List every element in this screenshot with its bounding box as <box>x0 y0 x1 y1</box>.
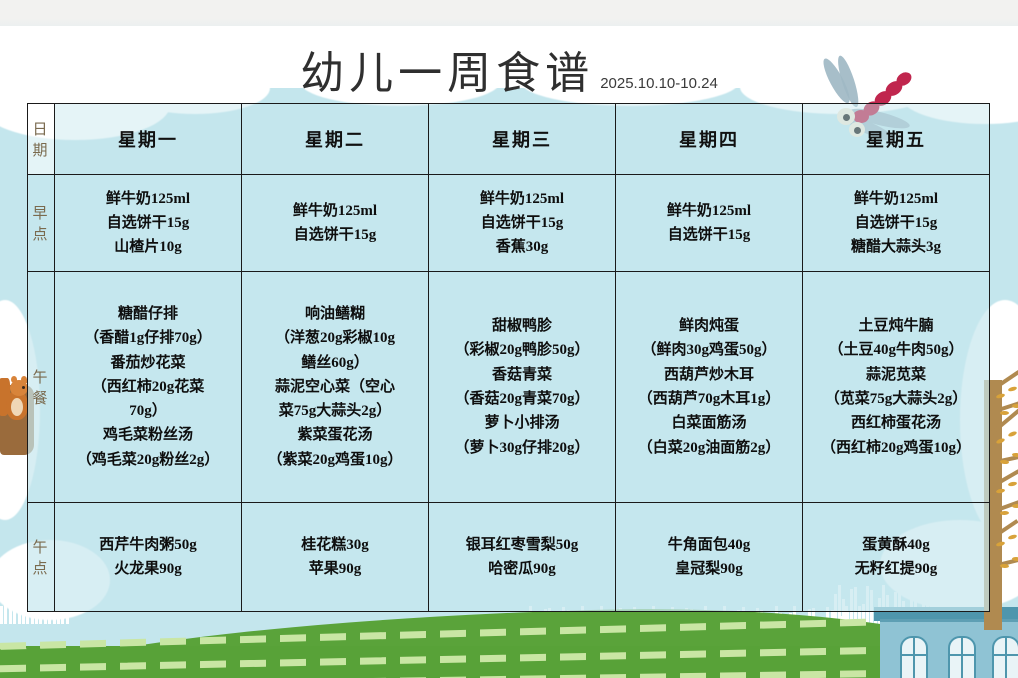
menu-line: （白菜20g油面筋2g） <box>619 436 799 460</box>
menu-line: 火龙果90g <box>58 557 238 581</box>
tree-leaf <box>1012 404 1018 408</box>
menu-cell-monday-1: 糖醋仔排（香醋1g仔排70g）番茄炒花菜（西红柿20g花菜70g）鸡毛菜粉丝汤（… <box>55 272 242 503</box>
menu-line: （紫菜20g鸡蛋10g） <box>245 448 425 472</box>
menu-line: 鲜肉炖蛋 <box>619 314 799 338</box>
menu-cell-tuesday-1: 响油鳝糊（洋葱20g彩椒10g鳝丝60g）蒜泥空心菜（空心菜75g大蒜头2g）紫… <box>242 272 429 503</box>
menu-line: （西红柿20g鸡蛋10g） <box>806 436 986 460</box>
menu-line: （香醋1g仔排70g） <box>58 326 238 350</box>
menu-line: 鲜牛奶125ml <box>432 187 612 211</box>
table-body: 早点鲜牛奶125ml自选饼干15g山楂片10g鲜牛奶125ml自选饼干15g鲜牛… <box>28 175 990 612</box>
day-header-friday: 星期五 <box>803 104 990 175</box>
menu-line: （西红柿20g花菜 <box>58 375 238 399</box>
menu-line: 牛角面包40g <box>619 533 799 557</box>
menu-line: （香菇20g青菜70g） <box>432 387 612 411</box>
menu-line: 自选饼干15g <box>245 223 425 247</box>
grass-blade <box>9 584 12 624</box>
menu-line: 皇冠梨90g <box>619 557 799 581</box>
menu-cell-wednesday-2: 银耳红枣雪梨50g哈密瓜90g <box>429 503 616 612</box>
row-label-1: 午餐 <box>28 272 55 503</box>
menu-cell-wednesday-0: 鲜牛奶125ml自选饼干15g香蕉30g <box>429 175 616 272</box>
menu-line: 西红柿蛋花汤 <box>806 411 986 435</box>
menu-line: 番茄炒花菜 <box>58 351 238 375</box>
menu-line: （西葫芦70g木耳1g） <box>619 387 799 411</box>
grass-blade <box>4 590 7 624</box>
table-header-row: 日期 星期一 星期二 星期三 星期四 星期五 <box>28 104 990 175</box>
menu-cell-tuesday-2: 桂花糕30g苹果90g <box>242 503 429 612</box>
menu-line: 土豆炖牛腩 <box>806 314 986 338</box>
menu-line: 蛋黄酥40g <box>806 533 986 557</box>
menu-line: （土豆40g牛肉50g） <box>806 338 986 362</box>
menu-line: 桂花糕30g <box>245 533 425 557</box>
poster-canvas: 幼儿一周食谱 2025.10.10-10.24 日期 星期一 星期二 星期三 星… <box>0 0 1018 678</box>
menu-line: 苹果90g <box>245 557 425 581</box>
menu-cell-thursday-1: 鲜肉炖蛋（鲜肉30g鸡蛋50g）西葫芦炒木耳（西葫芦70g木耳1g）白菜面筋汤（… <box>616 272 803 503</box>
table-row: 早点鲜牛奶125ml自选饼干15g山楂片10g鲜牛奶125ml自选饼干15g鲜牛… <box>28 175 990 272</box>
menu-cell-monday-2: 西芹牛肉粥50g火龙果90g <box>55 503 242 612</box>
house-window-left <box>900 636 928 678</box>
menu-line: 自选饼干15g <box>806 211 986 235</box>
weekly-menu-table: 日期 星期一 星期二 星期三 星期四 星期五 早点鲜牛奶125ml自选饼干15g… <box>27 103 990 612</box>
row-label-2: 午点 <box>28 503 55 612</box>
day-header-thursday: 星期四 <box>616 104 803 175</box>
day-header-wednesday: 星期三 <box>429 104 616 175</box>
row-label-0: 早点 <box>28 175 55 272</box>
cloud-blob <box>520 56 740 106</box>
menu-line: 自选饼干15g <box>58 211 238 235</box>
menu-line: 哈密瓜90g <box>432 557 612 581</box>
menu-line: 山楂片10g <box>58 235 238 259</box>
menu-line: 鲜牛奶125ml <box>58 187 238 211</box>
grass-blade <box>18 601 21 624</box>
menu-line: 萝卜小排汤 <box>432 411 612 435</box>
menu-cell-friday-1: 土豆炖牛腩（土豆40g牛肉50g）蒜泥苋菜（苋菜75g大蒜头2g）西红柿蛋花汤（… <box>803 272 990 503</box>
menu-line: 鲜牛奶125ml <box>619 199 799 223</box>
cloud-blob <box>300 58 500 106</box>
grass-blade <box>13 593 16 624</box>
menu-line: 银耳红枣雪梨50g <box>432 533 612 557</box>
day-header-tuesday: 星期二 <box>242 104 429 175</box>
menu-line: （萝卜30g仔排20g） <box>432 436 612 460</box>
menu-line: 甜椒鸭胗 <box>432 314 612 338</box>
menu-line: 紫菜蛋花汤 <box>245 423 425 447</box>
table-head: 日期 星期一 星期二 星期三 星期四 星期五 <box>28 104 990 175</box>
menu-line: 鲜牛奶125ml <box>806 187 986 211</box>
day-header-monday: 星期一 <box>55 104 242 175</box>
menu-line: 西葫芦炒木耳 <box>619 363 799 387</box>
house-window-right <box>992 636 1018 678</box>
menu-cell-wednesday-1: 甜椒鸭胗（彩椒20g鸭胗50g）香菇青菜（香菇20g青菜70g）萝卜小排汤（萝卜… <box>429 272 616 503</box>
menu-line: 香菇青菜 <box>432 363 612 387</box>
menu-cell-thursday-0: 鲜牛奶125ml自选饼干15g <box>616 175 803 272</box>
tree-leaf <box>1000 411 1009 415</box>
menu-line: 鳝丝60g） <box>245 351 425 375</box>
menu-cell-monday-0: 鲜牛奶125ml自选饼干15g山楂片10g <box>55 175 242 272</box>
menu-line: 糖醋仔排 <box>58 302 238 326</box>
menu-cell-friday-2: 蛋黄酥40g无籽红提90g <box>803 503 990 612</box>
menu-line: （彩椒20g鸭胗50g） <box>432 338 612 362</box>
corner-label: 日期 <box>28 104 55 175</box>
menu-line: （鲜肉30g鸡蛋50g） <box>619 338 799 362</box>
table-row: 午餐糖醋仔排（香醋1g仔排70g）番茄炒花菜（西红柿20g花菜70g）鸡毛菜粉丝… <box>28 272 990 503</box>
menu-line: （鸡毛菜20g粉丝2g） <box>58 448 238 472</box>
menu-line: 自选饼干15g <box>432 211 612 235</box>
menu-line: 菜75g大蒜头2g） <box>245 399 425 423</box>
menu-cell-friday-0: 鲜牛奶125ml自选饼干15g糖醋大蒜头3g <box>803 175 990 272</box>
menu-line: 西芹牛肉粥50g <box>58 533 238 557</box>
menu-line: 无籽红提90g <box>806 557 986 581</box>
menu-line: 鸡毛菜粉丝汤 <box>58 423 238 447</box>
menu-line: 糖醋大蒜头3g <box>806 235 986 259</box>
house-window-center <box>948 636 976 678</box>
menu-cell-tuesday-0: 鲜牛奶125ml自选饼干15g <box>242 175 429 272</box>
menu-line: 自选饼干15g <box>619 223 799 247</box>
menu-line: 鲜牛奶125ml <box>245 199 425 223</box>
menu-line: 70g） <box>58 399 238 423</box>
menu-line: （洋葱20g彩椒10g <box>245 326 425 350</box>
menu-line: （苋菜75g大蒜头2g） <box>806 387 986 411</box>
table-row: 午点西芹牛肉粥50g火龙果90g桂花糕30g苹果90g银耳红枣雪梨50g哈密瓜9… <box>28 503 990 612</box>
menu-line: 白菜面筋汤 <box>619 411 799 435</box>
grass-blade <box>0 606 3 624</box>
menu-line: 蒜泥苋菜 <box>806 363 986 387</box>
menu-line: 香蕉30g <box>432 235 612 259</box>
menu-cell-thursday-2: 牛角面包40g皇冠梨90g <box>616 503 803 612</box>
menu-line: 响油鳝糊 <box>245 302 425 326</box>
grass-blade <box>22 587 25 624</box>
menu-line: 蒜泥空心菜（空心 <box>245 375 425 399</box>
